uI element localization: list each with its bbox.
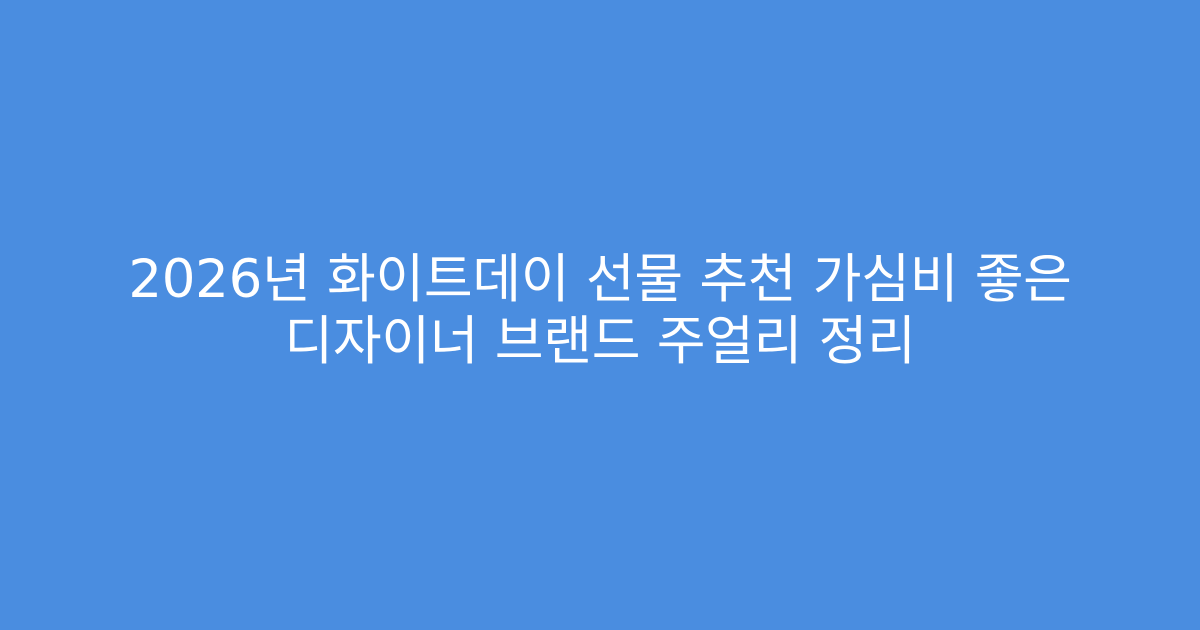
page-title: 2026년 화이트데이 선물 추천 가심비 좋은 디자이너 브랜드 주얼리 정리 xyxy=(80,249,1120,381)
title-line-1: 2026년 화이트데이 선물 추천 가심비 좋은 xyxy=(128,249,1071,311)
title-line-2: 디자이너 브랜드 주얼리 정리 xyxy=(284,311,915,373)
social-share-card: 2026년 화이트데이 선물 추천 가심비 좋은 디자이너 브랜드 주얼리 정리 xyxy=(0,0,1200,630)
